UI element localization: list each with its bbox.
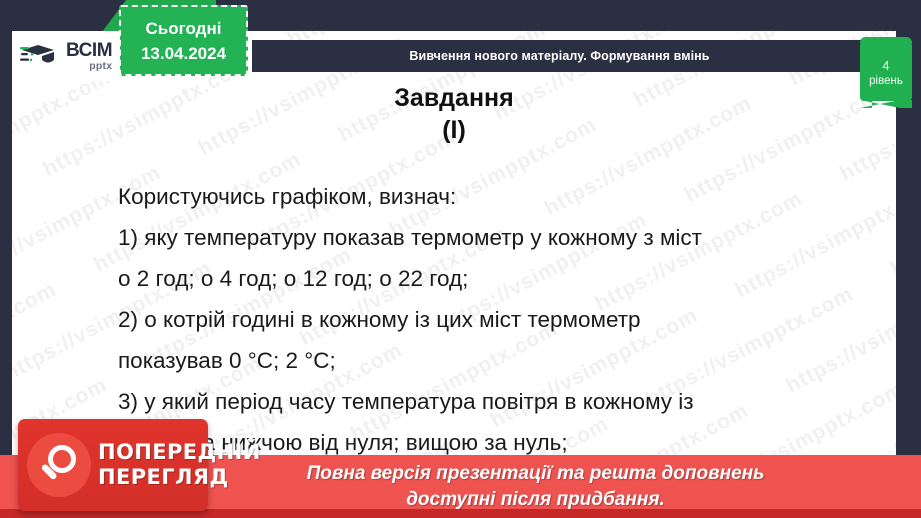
notice-line-1: Повна версія презентації та решта доповн… — [307, 461, 765, 487]
graduation-cap-icon — [20, 41, 62, 71]
notice-line-2: доступні після придбання. — [406, 487, 665, 513]
brand-logo[interactable]: ВСІМ pptx — [12, 31, 120, 81]
lesson-stage-banner: Вивчення нового матеріалу. Формування вм… — [252, 40, 867, 72]
magnifier-icon — [27, 433, 91, 497]
level-label: рівень — [869, 74, 903, 89]
task-text-block: Користуючись графіком, визнач:1) яку тем… — [118, 176, 878, 463]
today-label: Сьогодні — [146, 16, 222, 41]
task-line: о 2 год; о 4 год; о 12 год; о 22 год; — [118, 258, 878, 299]
ribbon-body: 4 рівень — [860, 45, 912, 101]
page-title: Завдання — [12, 82, 896, 114]
today-date-card: Сьогодні 13.04.2024 — [119, 5, 248, 76]
task-line: 2) о котрій годині в кожному із цих міст… — [118, 299, 878, 340]
logo-wordmark: ВСІМ pptx — [66, 41, 112, 72]
preview-badge[interactable]: ПОПЕРЕДНІЙ ПЕРЕГЛЯД — [18, 419, 208, 511]
task-line: Користуючись графіком, визнач: — [118, 176, 878, 217]
preview-badge-text: ПОПЕРЕДНІЙ ПЕРЕГЛЯД — [98, 440, 261, 490]
task-line: 3) у який період часу температура повітр… — [118, 381, 878, 422]
task-line: 1) яку температуру показав термометр у к… — [118, 217, 878, 258]
page-subtitle: (I) — [12, 114, 896, 146]
lesson-stage-text: Вивчення нового матеріалу. Формування вм… — [409, 49, 709, 63]
level-number: 4 — [882, 57, 889, 74]
preview-line-1: ПОПЕРЕДНІЙ — [98, 440, 261, 465]
logo-name: ВСІМ — [66, 40, 112, 61]
preview-line-2: ПЕРЕГЛЯД — [98, 465, 261, 490]
today-date-value: 13.04.2024 — [141, 41, 226, 66]
task-line: показував 0 °С; 2 °С; — [118, 340, 878, 381]
slide-canvas: https://vsimpptx.comhttps://vsimpptx.com… — [0, 0, 921, 518]
logo-subtext: pptx — [66, 61, 112, 72]
level-badge: 4 рівень — [860, 37, 912, 101]
